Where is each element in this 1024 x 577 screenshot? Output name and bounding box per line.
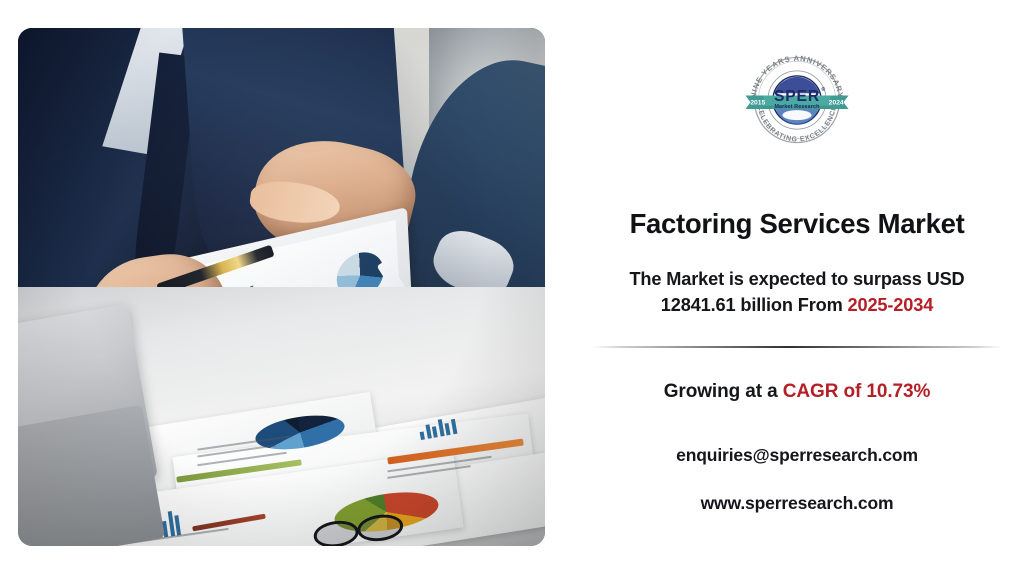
hero-photo <box>18 28 545 546</box>
badge-registered-icon: ® <box>821 86 825 93</box>
badge-brand-name: SPER <box>774 88 820 105</box>
cagr-statement: Growing at a CAGR of 10.73% <box>664 381 931 403</box>
page-title: Factoring Services Market <box>630 208 965 240</box>
badge-year-end: 2024 <box>829 99 844 106</box>
photo-scene <box>18 28 545 546</box>
contact-email[interactable]: enquiries@sperresearch.com <box>676 445 918 466</box>
market-value-statement: The Market is expected to surpass USD 12… <box>629 266 964 319</box>
cagr-prefix: Growing at a <box>664 381 783 402</box>
section-divider <box>592 346 1002 348</box>
market-value-amount: 12841.61 billion From <box>661 295 848 315</box>
market-value-line-2: 12841.61 billion From 2025-2034 <box>629 292 964 318</box>
contact-website[interactable]: www.sperresearch.com <box>701 493 894 514</box>
forecast-period: 2025-2034 <box>848 295 934 315</box>
content-panel: NINE YEARS ANNIVERSARY CELEBRATING EXCEL… <box>570 0 1024 577</box>
sper-anniversary-logo: NINE YEARS ANNIVERSARY CELEBRATING EXCEL… <box>741 44 853 156</box>
market-report-banner: NINE YEARS ANNIVERSARY CELEBRATING EXCEL… <box>0 0 1024 577</box>
badge-tagline: Market Research <box>774 104 819 110</box>
cagr-value: CAGR of 10.73% <box>783 381 930 402</box>
badge-year-start: 2015 <box>750 99 765 106</box>
photo-laptop-base <box>18 404 165 546</box>
market-value-line-1: The Market is expected to surpass USD <box>629 266 964 292</box>
